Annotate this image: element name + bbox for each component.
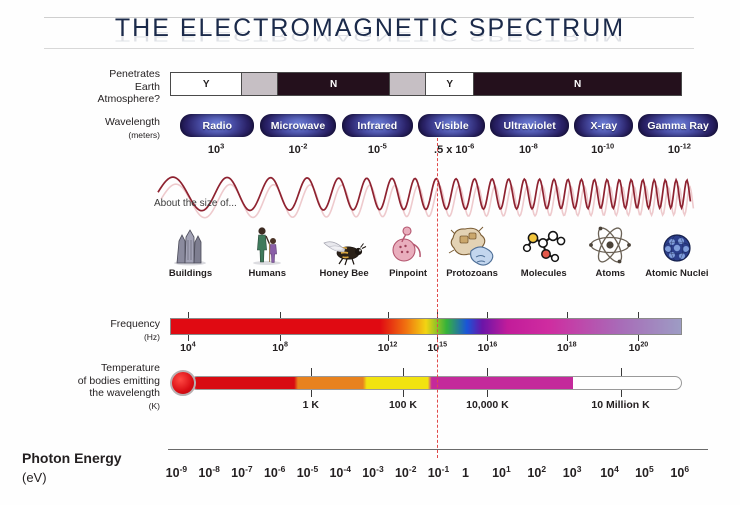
wavelength-value-6: 10-12 bbox=[668, 144, 691, 156]
molecule-icon bbox=[506, 224, 582, 266]
atmosphere-segment-part-1 bbox=[242, 73, 278, 95]
photon-energy-tick-7: 10-2 bbox=[395, 466, 416, 480]
atmosphere-penetration-bar: YNYN bbox=[170, 72, 682, 96]
waveform-illustration bbox=[150, 164, 695, 220]
protozoan-icon bbox=[434, 224, 510, 266]
atmosphere-segment-no-2: N bbox=[278, 73, 390, 95]
temperature-tick-labels: 1 K100 K10,000 K10 Million K bbox=[170, 399, 682, 415]
temperature-label-line3: the wavelength bbox=[20, 387, 160, 400]
wavelength-band-x-ray[interactable]: X-ray bbox=[574, 114, 633, 137]
frequency-tick-label-1: 108 bbox=[272, 342, 288, 354]
frequency-label: Frequency bbox=[30, 318, 160, 331]
photon-energy-label: Photon Energy bbox=[22, 450, 122, 466]
wavelength-value-1: 10-2 bbox=[289, 144, 308, 156]
frequency-row-label: Frequency (Hz) bbox=[30, 318, 160, 343]
frequency-tick-labels: 10410810121015101610181020 bbox=[170, 342, 682, 358]
page-title: THE ELECTROMAGNETIC SPECTRUM bbox=[0, 14, 740, 43]
object-humans: Humans bbox=[229, 224, 305, 279]
title-bottom-rule bbox=[44, 48, 694, 49]
wavelength-band-gamma-ray[interactable]: Gamma Ray bbox=[638, 114, 717, 137]
photon-energy-axis-line bbox=[168, 449, 708, 450]
object-scale-row: Buildings Humans Honey Bee bbox=[170, 224, 682, 286]
photon-energy-tick-12: 103 bbox=[563, 466, 582, 480]
photon-energy-tick-14: 105 bbox=[635, 466, 654, 480]
photon-energy-tick-15: 106 bbox=[670, 466, 689, 480]
object-label: Humans bbox=[229, 268, 305, 279]
photon-energy-tick-11: 102 bbox=[527, 466, 546, 480]
frequency-tick-label-0: 104 bbox=[180, 342, 196, 354]
photon-energy-tick-2: 10-7 bbox=[231, 466, 252, 480]
temperature-label-units: (K) bbox=[20, 400, 160, 413]
size-of-caption: About the size of... bbox=[154, 198, 237, 209]
wavelength-value-3: .5 x 10-6 bbox=[434, 144, 474, 156]
temperature-label-line2: of bodies emitting bbox=[20, 375, 160, 388]
wavelength-band-radio[interactable]: Radio bbox=[180, 114, 254, 137]
wavelength-value-2: 10-5 bbox=[368, 144, 387, 156]
wavelength-value-4: 10-8 bbox=[519, 144, 538, 156]
photon-energy-tick-1: 10-8 bbox=[198, 466, 219, 480]
temperature-tick-label-1: 100 K bbox=[389, 399, 417, 411]
atmosphere-segment-yes-4: Y bbox=[426, 73, 474, 95]
object-atomic-nuclei: Atomic Nuclei bbox=[639, 224, 715, 279]
humans-icon bbox=[229, 224, 305, 266]
atom-icon bbox=[572, 224, 648, 266]
object-protozoans: Protozoans bbox=[434, 224, 510, 279]
visible-light-marker-line bbox=[437, 138, 438, 458]
atmosphere-segment-yes-0: Y bbox=[171, 73, 242, 95]
object-buildings: Buildings bbox=[152, 224, 228, 279]
wavelength-band-ultraviolet[interactable]: Ultraviolet bbox=[490, 114, 569, 137]
wavelength-exponent-row: 10310-210-5.5 x 10-610-810-1010-12 bbox=[170, 144, 682, 162]
frequency-spectrum-bar bbox=[170, 318, 682, 335]
wavelength-value-0: 103 bbox=[208, 144, 224, 156]
object-label: Atomic Nuclei bbox=[639, 268, 715, 279]
temperature-label-line1: Temperature bbox=[20, 362, 160, 375]
temperature-tick-label-3: 10 Million K bbox=[591, 399, 649, 411]
atmosphere-label-line1: Penetrates bbox=[30, 68, 160, 81]
photon-energy-tick-labels: 10-910-810-710-610-510-410-310-210-11101… bbox=[166, 466, 686, 486]
object-label: Atoms bbox=[572, 268, 648, 279]
frequency-tick-label-5: 1018 bbox=[557, 342, 577, 354]
thermometer-bulb-icon bbox=[170, 370, 196, 396]
wavelength-value-5: 10-10 bbox=[591, 144, 614, 156]
temperature-tick-label-2: 10,000 K bbox=[466, 399, 509, 411]
wavelength-row-label: Wavelength (meters) bbox=[30, 116, 160, 141]
wavelength-band-visible[interactable]: Visible bbox=[418, 114, 485, 137]
atmosphere-label-line3: Atmosphere? bbox=[30, 93, 160, 106]
object-molecules: Molecules bbox=[506, 224, 582, 279]
nucleus-icon bbox=[639, 224, 715, 266]
object-label: Protozoans bbox=[434, 268, 510, 279]
frequency-label-units: (Hz) bbox=[30, 331, 160, 344]
object-atoms: Atoms bbox=[572, 224, 648, 279]
temperature-row-label: Temperature of bodies emitting the wavel… bbox=[20, 362, 160, 412]
photon-energy-tick-8: 10-1 bbox=[428, 466, 449, 480]
photon-energy-tick-9: 1 bbox=[462, 466, 469, 480]
wavelength-label: Wavelength bbox=[30, 116, 160, 129]
atmosphere-segment-no-5: N bbox=[474, 73, 681, 95]
thermometer bbox=[170, 370, 682, 396]
frequency-tick-label-2: 1012 bbox=[378, 342, 398, 354]
photon-energy-tick-6: 10-3 bbox=[362, 466, 383, 480]
photon-energy-label-units: (eV) bbox=[22, 470, 47, 485]
atmosphere-label-line2: Earth bbox=[30, 81, 160, 94]
wavelength-band-row: RadioMicrowaveInfraredVisibleUltraviolet… bbox=[170, 114, 682, 138]
photon-energy-tick-3: 10-6 bbox=[264, 466, 285, 480]
atmosphere-segment-part-3 bbox=[390, 73, 426, 95]
thermometer-fill bbox=[191, 377, 573, 389]
buildings-icon bbox=[152, 224, 228, 266]
photon-energy-tick-10: 101 bbox=[492, 466, 511, 480]
temperature-tick-label-0: 1 K bbox=[303, 399, 319, 411]
photon-energy-tick-13: 104 bbox=[600, 466, 619, 480]
photon-energy-tick-5: 10-4 bbox=[329, 466, 350, 480]
frequency-tick-label-6: 1020 bbox=[629, 342, 649, 354]
title-block: THE ELECTROMAGNETIC SPECTRUM THE ELECTRO… bbox=[0, 4, 740, 52]
object-label: Buildings bbox=[152, 268, 228, 279]
photon-energy-tick-4: 10-5 bbox=[297, 466, 318, 480]
thermometer-tube bbox=[190, 376, 682, 390]
wavelength-band-infrared[interactable]: Infrared bbox=[342, 114, 414, 137]
photon-energy-tick-0: 10-9 bbox=[166, 466, 187, 480]
waveform-svg bbox=[150, 164, 695, 220]
wavelength-label-units: (meters) bbox=[30, 129, 160, 142]
wavelength-band-microwave[interactable]: Microwave bbox=[260, 114, 337, 137]
object-label: Molecules bbox=[506, 268, 582, 279]
atmosphere-row-label: Penetrates Earth Atmosphere? bbox=[30, 68, 160, 106]
frequency-tick-label-4: 1016 bbox=[478, 342, 498, 354]
